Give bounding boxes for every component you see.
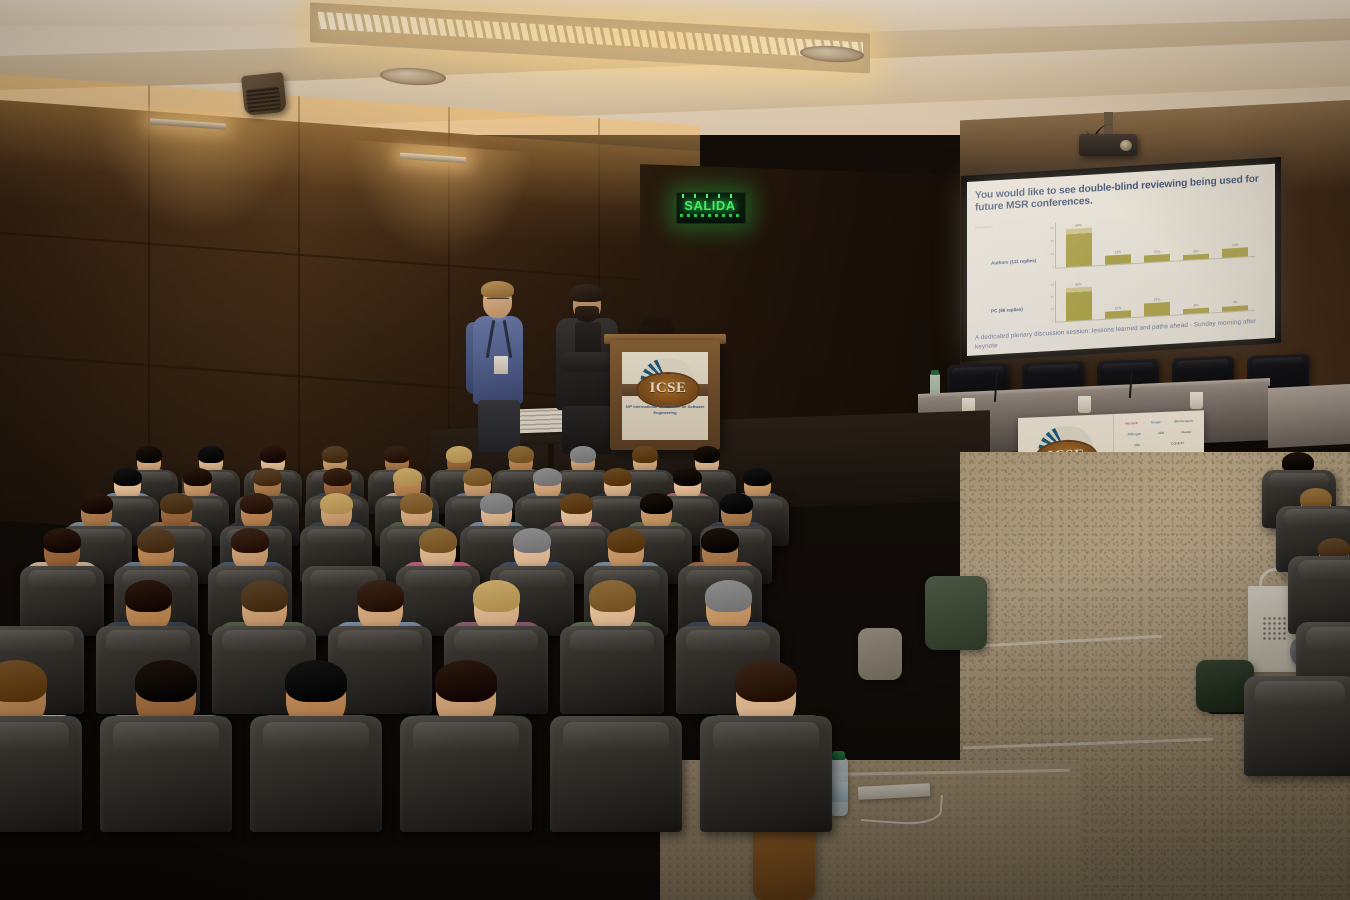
- bag-on-seat: [925, 576, 987, 650]
- audience-member-hair: [694, 446, 720, 463]
- y-axis-tick: 40: [1048, 295, 1054, 299]
- audience-member-hair: [357, 580, 404, 612]
- crossed-arms: [560, 352, 614, 372]
- bar: 55%: [1066, 287, 1092, 322]
- audience-member-hair: [640, 493, 673, 515]
- audience-member-hair: [735, 660, 797, 702]
- chair-highlight: [1177, 359, 1229, 371]
- sponsor-logo: Huawei: [1181, 429, 1191, 433]
- bag-on-seat: [858, 628, 902, 680]
- audience-member-hair: [463, 468, 492, 487]
- paper-cup: [1078, 396, 1091, 413]
- y-axis-tick: 60: [1048, 225, 1054, 229]
- auditorium-seat: [250, 716, 382, 832]
- chair-highlight: [1027, 363, 1079, 375]
- podium-caption: 39ᵗʰ International Conference on Softwar…: [624, 404, 706, 416]
- bar-group-authors: 58%13%10%8%14%: [1059, 210, 1255, 268]
- bar-value-label: 22%: [1138, 296, 1176, 302]
- bar-value-label: 14%: [1216, 242, 1254, 248]
- audience-member-hair: [183, 468, 212, 487]
- audience-member-hair: [393, 468, 422, 487]
- y-axis-tick: 20: [1048, 252, 1054, 256]
- audience-member-hair: [603, 468, 632, 487]
- auditorium-seat: [550, 716, 682, 832]
- bar: 58%: [1066, 227, 1092, 267]
- audience-member-hair: [560, 493, 593, 515]
- audience-member-hair: [43, 528, 81, 553]
- audience-member-hair: [241, 580, 288, 612]
- audience-member-hair: [253, 468, 282, 487]
- conference-badge: [494, 356, 508, 374]
- slide-title: You would like to see double-blind revie…: [975, 173, 1265, 214]
- y-axis-tick: 60: [1048, 283, 1054, 287]
- bar: 13%: [1105, 255, 1131, 265]
- y-axis-tick: 0: [1048, 319, 1054, 323]
- audience-member-hair: [446, 446, 472, 463]
- audience-member-hair: [137, 528, 175, 553]
- bar-value-label: 58%: [1060, 222, 1098, 228]
- y-axis-tick: 0: [1048, 265, 1054, 269]
- legs: [478, 400, 520, 452]
- auditorium-seat: [0, 716, 82, 832]
- audience-member-hair: [632, 446, 658, 463]
- sponsor-logo: JPMorgan: [1127, 431, 1141, 436]
- y-axis-tick: 40: [1048, 239, 1054, 243]
- audience-member-hair: [125, 580, 172, 612]
- audience-member-hair: [513, 528, 551, 553]
- y-axis-tick: 20: [1048, 307, 1054, 311]
- bar-value-label: 8%: [1177, 302, 1215, 308]
- audience-member-hair: [570, 446, 596, 463]
- sponsor-logo: UBA: [1134, 442, 1140, 446]
- audience-member-hair: [135, 660, 197, 702]
- auditorium-seat: [100, 716, 232, 832]
- bar-value-label: 10%: [1138, 249, 1176, 255]
- audience-member-hair: [480, 493, 513, 515]
- audience-member-hair: [80, 493, 113, 515]
- audience-member-hair: [720, 493, 753, 515]
- bar-value-label: 55%: [1060, 281, 1098, 287]
- audience-member-hair: [160, 493, 193, 515]
- glasses-icon: [487, 298, 509, 304]
- bar: 22%: [1144, 302, 1170, 317]
- audience-member-hair: [136, 446, 162, 463]
- audience-member-hair: [320, 493, 353, 515]
- projector-lens-icon: [1120, 140, 1132, 151]
- audience-member-hair: [240, 493, 273, 515]
- icse-wordmark: ICSE: [638, 380, 698, 397]
- audience-member-hair: [260, 446, 286, 463]
- bar-chart-authors: 58%13%10%8%14% 0204060: [1055, 211, 1255, 269]
- audience-member-hair: [384, 446, 410, 463]
- sponsor-logo: Microsoft: [1125, 420, 1137, 425]
- audience-member-hair: [198, 446, 224, 463]
- hair: [570, 284, 604, 302]
- exit-sign-label: SALIDA: [679, 198, 741, 213]
- audience-member-hair: [607, 528, 645, 553]
- audience-member-hair: [701, 528, 739, 553]
- speaker-grille-icon: [246, 86, 281, 112]
- chart-series-1-label: Authors (111 replies): [991, 257, 1051, 267]
- bottle-cap-icon: [931, 370, 939, 375]
- chart-y-axis: [1055, 223, 1056, 269]
- panel-table-right-segment: [1268, 384, 1350, 448]
- bottle-cap-icon: [832, 751, 845, 760]
- auditorium-seat: [560, 626, 664, 714]
- auditorium-seat: [700, 716, 832, 832]
- chart-y-axis: [1055, 281, 1056, 323]
- beard: [575, 306, 599, 322]
- tote-bag-print: [1262, 616, 1288, 642]
- auditorium-seat: [400, 716, 532, 832]
- hair-front: [643, 314, 670, 325]
- chart-series-2-label: PC (86 replies): [991, 305, 1051, 315]
- audience-member-hair: [705, 580, 752, 612]
- audience-member-hair: [508, 446, 534, 463]
- bar-value-label: 12%: [1099, 305, 1137, 311]
- bar-value-label: 13%: [1099, 249, 1137, 255]
- bar: 14%: [1222, 247, 1248, 258]
- audience-member-hair: [473, 580, 520, 612]
- projection-screen: You would like to see double-blind revie…: [967, 164, 1275, 356]
- exit-sign-underbar: [680, 214, 740, 217]
- audience-member-hair: [231, 528, 269, 553]
- podium-icse-logo: ICSE: [634, 356, 696, 404]
- audience-member-hair: [589, 580, 636, 612]
- paper-cup: [1190, 392, 1203, 409]
- conference-auditorium-photo: SALIDA You would like to see double-blin…: [0, 0, 1350, 900]
- slide-axis-note: (% of replies): [975, 223, 1013, 229]
- bar-value-label: 9%: [1216, 299, 1254, 305]
- auditorium-seat: [1244, 676, 1350, 776]
- audience-member-hair: [322, 446, 348, 463]
- audience-member-hair: [533, 468, 562, 487]
- hair: [481, 281, 514, 298]
- audience-member-hair: [113, 468, 142, 487]
- sponsor-logo: Google: [1151, 420, 1161, 424]
- audience-member-hair: [673, 468, 702, 487]
- bar-group-pc: 55%12%22%8%9%: [1059, 268, 1255, 322]
- audience-member-hair: [743, 468, 772, 487]
- table-leg: [548, 444, 554, 470]
- bar-chart-pc: 55%12%22%8%9% 0204060: [1055, 269, 1255, 323]
- sponsor-logo: ABB: [1158, 430, 1164, 434]
- audience-member-hair: [323, 468, 352, 487]
- audience-member-hair: [419, 528, 457, 553]
- audience-member-hair: [400, 493, 433, 515]
- chair-highlight: [1252, 357, 1304, 369]
- sponsor-logo: IBM Research: [1174, 418, 1193, 423]
- audience-member-hair: [435, 660, 497, 702]
- sponsor-logo: CONICET: [1171, 441, 1185, 446]
- bar-value-label: 8%: [1177, 248, 1215, 254]
- audience-member-hair: [285, 660, 347, 702]
- bar: 12%: [1105, 310, 1131, 319]
- chair-highlight: [1102, 361, 1154, 373]
